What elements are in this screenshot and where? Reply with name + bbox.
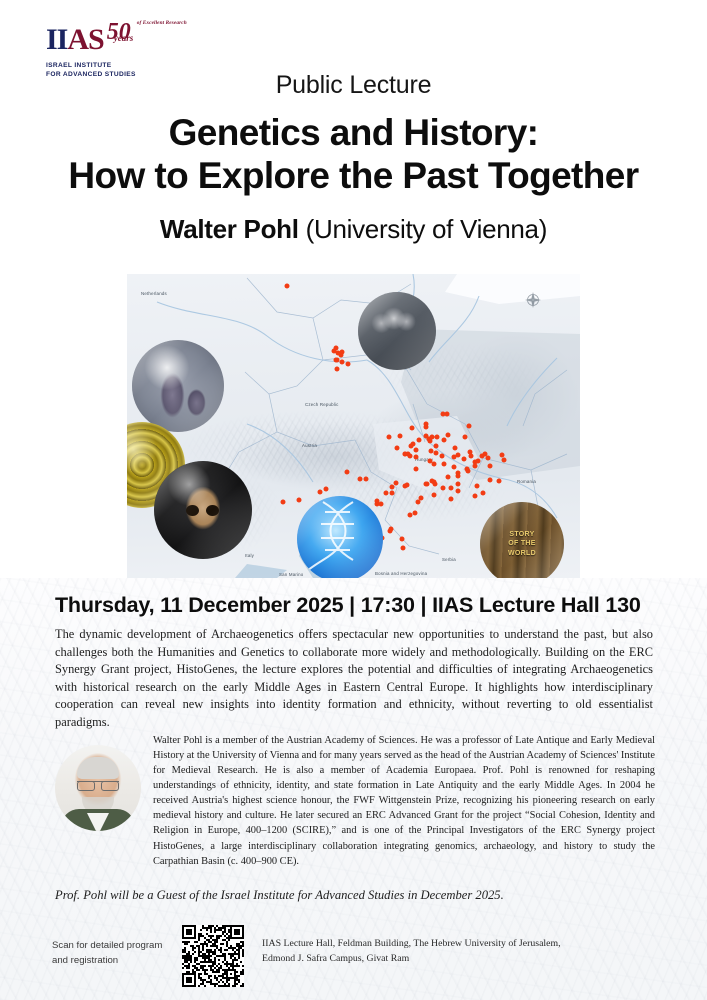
map-site-dot xyxy=(502,457,507,462)
map-label-serbia: Serbia xyxy=(442,557,456,562)
map-site-dot xyxy=(440,412,445,417)
speaker-line: Walter Pohl (University of Vienna) xyxy=(0,214,707,245)
map-site-dot xyxy=(423,433,428,438)
map-site-dot xyxy=(488,478,493,483)
book-spine-text: STORY OF THE WORLD xyxy=(480,502,564,578)
logo-wordmark-row: IIAS 50 years of Excellent Research xyxy=(46,26,236,55)
map-site-dot xyxy=(434,450,439,455)
logo-years-label: years xyxy=(114,34,134,43)
venue-address-line1: IIAS Lecture Hall, Feldman Building, The… xyxy=(262,937,561,952)
map-label-romania: Romania xyxy=(517,479,536,484)
map-site-dot xyxy=(358,477,363,482)
map-site-dot xyxy=(441,437,446,442)
map-site-dot xyxy=(402,452,407,457)
map-site-dot xyxy=(400,545,405,550)
book-spines-inset: STORY OF THE WORLD xyxy=(480,502,564,578)
map-label-czech-republic: Czech Republic xyxy=(305,402,339,407)
map-site-dot xyxy=(413,454,418,459)
map-site-dot xyxy=(497,479,502,484)
map-label-netherlands: Netherlands xyxy=(141,291,167,296)
map-site-dot xyxy=(425,481,430,486)
dna-helix-inset xyxy=(297,496,383,578)
speaker-bio-text: Walter Pohl is a member of the Austrian … xyxy=(153,733,655,869)
map-illustration: NetherlandsPolandBelarusCzech RepublicUk… xyxy=(127,274,580,578)
map-site-dot xyxy=(442,462,447,467)
event-kicker: Public Lecture xyxy=(0,71,707,100)
map-site-dot xyxy=(431,493,436,498)
book-text-line2: OF THE xyxy=(508,539,535,548)
logo-mark: IIAS xyxy=(46,26,104,55)
map-site-dot xyxy=(481,491,486,496)
map-site-dot xyxy=(388,529,393,534)
map-site-dot xyxy=(389,490,394,495)
venue-address-line2: Edmond J. Safra Campus, Givat Ram xyxy=(262,952,561,967)
map-site-dot xyxy=(379,501,384,506)
map-site-dot xyxy=(446,433,451,438)
map-site-dot xyxy=(452,464,457,469)
map-site-dot xyxy=(445,475,450,480)
map-site-dot xyxy=(453,446,458,451)
map-site-dot xyxy=(374,498,379,503)
map-label-bosnia-and-herzegovina: Bosnia and Herzegovina xyxy=(375,571,427,576)
poster-root: IIAS 50 years of Excellent Research ISRA… xyxy=(0,0,707,1000)
map-site-dot xyxy=(407,454,412,459)
book-text-line3: WORLD xyxy=(508,549,536,558)
map-site-dot xyxy=(427,439,432,444)
map-site-dot xyxy=(483,451,488,456)
skull-eye-socket-right xyxy=(206,505,219,516)
map-site-dot xyxy=(339,360,344,365)
map-site-dot xyxy=(472,464,477,469)
lecture-abstract: The dynamic development of Archaeogeneti… xyxy=(55,626,653,732)
map-site-dot xyxy=(413,467,418,472)
map-site-dot xyxy=(408,443,413,448)
map-site-dot xyxy=(405,483,410,488)
map-site-dot xyxy=(455,471,460,476)
map-site-dot xyxy=(345,361,350,366)
map-site-dot xyxy=(297,498,302,503)
logo-50-anniversary: 50 years of Excellent Research xyxy=(107,20,131,44)
map-site-dot xyxy=(416,500,421,505)
ceramic-vessels-inset xyxy=(132,340,224,432)
map-site-dot xyxy=(318,490,323,495)
map-site-dot xyxy=(434,444,439,449)
map-site-dot xyxy=(334,367,339,372)
map-site-dot xyxy=(400,536,405,541)
event-datetime-venue: Thursday, 11 December 2025 | 17:30 | IIA… xyxy=(55,593,667,618)
map-site-dot xyxy=(465,467,470,472)
map-label-san-marino: San Marino xyxy=(279,572,303,577)
map-site-dot xyxy=(441,486,446,491)
map-site-dot xyxy=(364,477,369,482)
speaker-portrait-avatar xyxy=(55,745,141,831)
map-site-dot xyxy=(390,485,395,490)
book-text-line1: STORY xyxy=(509,530,534,539)
speaker-bio-block: Walter Pohl is a member of the Austrian … xyxy=(55,733,655,869)
map-site-dot xyxy=(395,445,400,450)
speaker-name: Walter Pohl xyxy=(160,214,299,244)
map-site-dot xyxy=(432,462,437,467)
map-site-dot xyxy=(485,456,490,461)
map-site-dot xyxy=(488,464,493,469)
logo-institute-line1: ISRAEL INSTITUTE xyxy=(46,61,236,71)
map-site-dot xyxy=(281,500,286,505)
qr-scan-instruction: Scan for detailed program and registrati… xyxy=(52,925,164,969)
map-site-dot xyxy=(410,425,415,430)
map-site-dot xyxy=(423,425,428,430)
title-line-1: Genetics and History: xyxy=(0,112,707,155)
map-site-dot xyxy=(345,470,350,475)
portrait-glasses xyxy=(77,781,119,790)
skeleton-burial-inset xyxy=(358,292,436,370)
map-label-italy: Italy xyxy=(245,553,254,558)
registration-qr-code[interactable] xyxy=(182,925,244,987)
map-site-dot xyxy=(463,435,468,440)
map-site-dot xyxy=(475,483,480,488)
map-site-dot xyxy=(456,482,461,487)
speaker-affiliation: (University of Vienna) xyxy=(306,214,547,244)
map-site-dot xyxy=(387,434,392,439)
map-site-dot xyxy=(448,496,453,501)
map-site-dot xyxy=(408,513,413,518)
human-skull-inset xyxy=(154,461,252,559)
title-line-2: How to Explore the Past Together xyxy=(0,155,707,198)
map-site-dot xyxy=(412,511,417,516)
portrait-hair xyxy=(77,757,119,779)
map-site-dot xyxy=(473,493,478,498)
map-site-dot xyxy=(285,284,290,289)
map-site-dot xyxy=(429,435,434,440)
map-site-dot xyxy=(473,459,478,464)
map-site-dot xyxy=(467,449,472,454)
logo-mark-as: AS xyxy=(67,23,103,56)
map-site-dot xyxy=(383,491,388,496)
map-site-dot xyxy=(440,454,445,459)
dna-helix-icon xyxy=(297,496,383,578)
map-site-dot xyxy=(323,486,328,491)
map-site-dot xyxy=(461,457,466,462)
map-site-dot xyxy=(334,357,339,362)
map-site-dot xyxy=(413,448,418,453)
map-site-dot xyxy=(434,435,439,440)
map-site-dot xyxy=(456,452,461,457)
map-label-austria: Austria xyxy=(302,443,317,448)
guest-note: Prof. Pohl will be a Guest of the Israel… xyxy=(55,888,504,903)
map-site-dot xyxy=(432,482,437,487)
skull-eye-socket-left xyxy=(186,505,199,516)
map-site-dot xyxy=(448,485,453,490)
map-site-dot xyxy=(398,433,403,438)
map-site-dot xyxy=(466,424,471,429)
map-site-dot xyxy=(455,488,460,493)
map-site-dot xyxy=(339,352,344,357)
map-site-dot xyxy=(428,449,433,454)
map-site-dot xyxy=(417,437,422,442)
logo-mark-ii: II xyxy=(46,23,67,56)
poster-footer: Scan for detailed program and registrati… xyxy=(52,925,677,987)
logo-excellent-research-label: of Excellent Research xyxy=(137,21,187,26)
page-title: Genetics and History: How to Explore the… xyxy=(0,112,707,197)
venue-address: IIAS Lecture Hall, Feldman Building, The… xyxy=(262,925,561,966)
map-site-dot xyxy=(499,453,504,458)
